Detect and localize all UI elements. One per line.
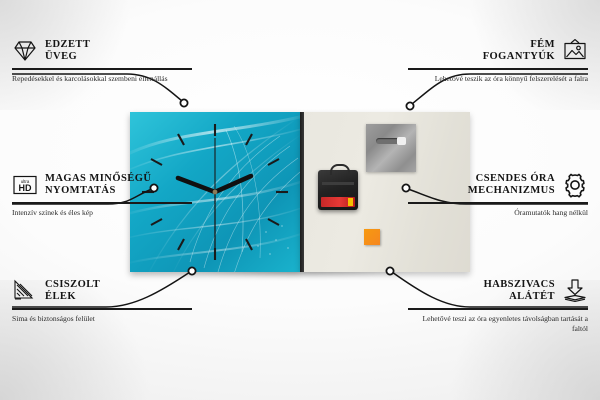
arrow-onto-pad-icon [562, 278, 588, 304]
feature-head: ultra HD MAGAS MINŐSÉGŰ NYOMTATÁS [12, 172, 192, 198]
feature-description: Repedésekkel és karcolásokkal szembeni e… [12, 74, 192, 84]
hanger-slot [376, 138, 406, 144]
feature-title-line1: EDZETT [45, 39, 90, 51]
leader-dot-tempered-glass [180, 99, 187, 106]
feature-divider [408, 308, 588, 310]
feature-divider [12, 68, 192, 70]
leader-dot-handles [406, 102, 413, 109]
metal-hanger-part [366, 124, 416, 172]
feature-title-line1: CSISZOLT [45, 279, 100, 291]
feature-title: MAGAS MINŐSÉGŰ NYOMTATÁS [45, 173, 151, 198]
badge-large-text: HD [19, 183, 32, 193]
feature-foam-pad[interactable]: HABSZIVACS ALÁTÉT Lehetővé teszi az óra … [408, 278, 588, 334]
feature-silent-mechanism[interactable]: CSENDES ÓRA MECHANIZMUS Óramutatók hang … [408, 172, 588, 218]
feature-title-line2: ALÁTÉT [484, 291, 555, 303]
feature-title-line2: FOGANTYÚK [483, 51, 555, 63]
feature-title: FÉM FOGANTYÚK [483, 39, 555, 64]
feature-head: FÉM FOGANTYÚK [408, 38, 588, 64]
feature-title-line2: ÉLEK [45, 291, 100, 303]
feature-high-quality-print[interactable]: ultra HD MAGAS MINŐSÉGŰ NYOMTATÁS Intenz… [12, 172, 192, 218]
feature-divider [12, 308, 192, 310]
ultra-hd-badge-icon: ultra HD [12, 172, 38, 198]
feature-title-line2: ÜVEG [45, 51, 90, 63]
gear-icon [562, 172, 588, 198]
feature-metal-handles[interactable]: FÉM FOGANTYÚK Lehetővé teszik az óra kön… [408, 38, 588, 84]
feature-title-line1: CSENDES ÓRA [468, 173, 555, 185]
feature-title: CSISZOLT ÉLEK [45, 279, 100, 304]
feature-title: CSENDES ÓRA MECHANIZMUS [468, 173, 555, 198]
battery-part [321, 197, 355, 207]
feature-divider [408, 202, 588, 204]
picture-hanger-icon [562, 38, 588, 64]
feature-description: Óramutatók hang nélkül [408, 208, 588, 218]
feature-divider [408, 68, 588, 70]
feature-title-line2: MECHANIZMUS [468, 185, 555, 197]
feature-tempered-glass[interactable]: EDZETT ÜVEG Repedésekkel és karcolásokka… [12, 38, 192, 84]
feature-description: Sima és biztonságos felület [12, 314, 192, 324]
feature-description: Lehetővé teszik az óra könnyű felszerelé… [408, 74, 588, 84]
movement-bar [322, 182, 354, 185]
feature-head: CSISZOLT ÉLEK [12, 278, 192, 304]
clock-movement-part [318, 170, 358, 210]
diamond-icon [12, 38, 38, 64]
feature-head: EDZETT ÜVEG [12, 38, 192, 64]
foam-pad-part [364, 229, 380, 245]
feature-title-line1: FÉM [483, 39, 555, 51]
feature-title-line1: MAGAS MINŐSÉGŰ [45, 173, 151, 185]
beveled-edge-icon [12, 278, 38, 304]
feature-title-line1: HABSZIVACS [484, 279, 555, 291]
feature-head: CSENDES ÓRA MECHANIZMUS [408, 172, 588, 198]
feature-description: Lehetővé teszi az óra egyenletes távolsá… [408, 314, 588, 334]
movement-loop [330, 164, 350, 175]
feature-title-line2: NYOMTATÁS [45, 185, 151, 197]
feature-polished-edges[interactable]: CSISZOLT ÉLEK Sima és biztonságos felüle… [12, 278, 192, 324]
feature-head: HABSZIVACS ALÁTÉT [408, 278, 588, 304]
feature-divider [12, 202, 192, 204]
feature-title: HABSZIVACS ALÁTÉT [484, 279, 555, 304]
feature-title: EDZETT ÜVEG [45, 39, 90, 64]
feature-description: Intenzív színek és éles kép [12, 208, 192, 218]
infographic-canvas: EDZETT ÜVEG Repedésekkel és karcolásokka… [0, 0, 600, 400]
